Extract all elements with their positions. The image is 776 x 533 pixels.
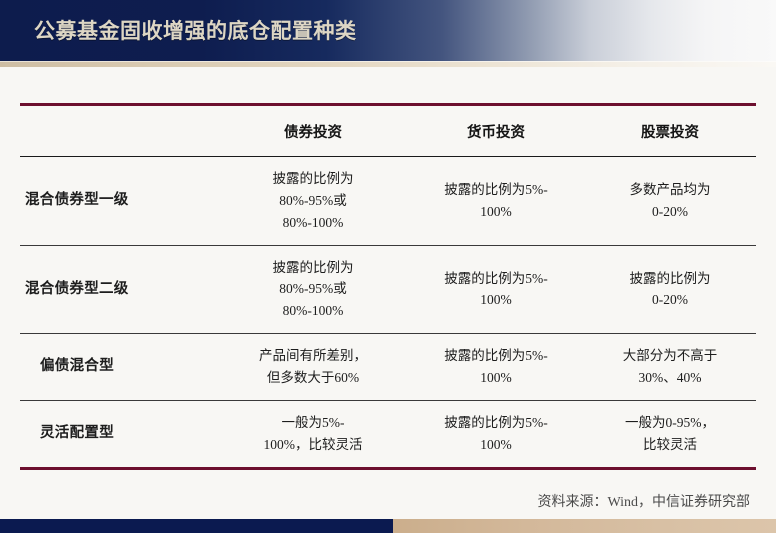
cell-bond-hybrid-bond-tier2: 披露的比例为80%-95%或80%-100% [218, 245, 408, 334]
row-label-bond-biased-hybrid: 偏债混合型 [20, 334, 218, 401]
cell-stock-bond-biased-hybrid: 大部分为不高于30%、40% [584, 334, 756, 401]
table-row: 混合债券型二级 披露的比例为80%-95%或80%-100% 披露的比例为5%-… [20, 245, 756, 334]
page-title: 公募基金固收增强的底仓配置种类 [34, 15, 357, 45]
row-label-flexible-allocation: 灵活配置型 [20, 400, 218, 468]
table-head: 债券投资 货币投资 股票投资 [20, 105, 756, 157]
cell-stock-flexible-allocation: 一般为0-95%，比较灵活 [584, 400, 756, 468]
cell-bond-hybrid-bond-tier1: 披露的比例为80%-95%或80%-100% [218, 157, 408, 246]
header-accent-highlight [0, 61, 776, 62]
source-note: 资料来源：Wind，中信证券研究部 [537, 491, 750, 511]
cell-money-bond-biased-hybrid: 披露的比例为5%-100% [408, 334, 584, 401]
table-row: 混合债券型一级 披露的比例为80%-95%或80%-100% 披露的比例为5%-… [20, 157, 756, 246]
row-label-hybrid-bond-tier1: 混合债券型一级 [20, 157, 218, 246]
column-header-blank [20, 106, 218, 157]
cell-money-hybrid-bond-tier2: 披露的比例为5%-100% [408, 245, 584, 334]
column-header-stock: 股票投资 [584, 106, 756, 157]
cell-bond-bond-biased-hybrid: 产品间有所差别，但多数大于60% [218, 334, 408, 401]
cell-bond-flexible-allocation: 一般为5%-100%，比较灵活 [218, 400, 408, 468]
table-body: 混合债券型一级 披露的比例为80%-95%或80%-100% 披露的比例为5%-… [20, 157, 756, 470]
table-header-row: 债券投资 货币投资 股票投资 [20, 106, 756, 157]
footer-bar-tan [393, 519, 776, 533]
column-header-bond: 债券投资 [218, 106, 408, 157]
cell-stock-hybrid-bond-tier1: 多数产品均为0-20% [584, 157, 756, 246]
cell-money-hybrid-bond-tier1: 披露的比例为5%-100% [408, 157, 584, 246]
footer-bar [0, 519, 776, 533]
table-row: 偏债混合型 产品间有所差别，但多数大于60% 披露的比例为5%-100% 大部分… [20, 334, 756, 401]
allocation-table: 债券投资 货币投资 股票投资 混合债券型一级 披露的比例为80%-95%或80%… [20, 103, 756, 470]
table-container: 债券投资 货币投资 股票投资 混合债券型一级 披露的比例为80%-95%或80%… [20, 103, 756, 470]
table-row: 灵活配置型 一般为5%-100%，比较灵活 披露的比例为5%-100% 一般为0… [20, 400, 756, 468]
column-header-money: 货币投资 [408, 106, 584, 157]
table-bottom-rule [20, 468, 756, 470]
cell-stock-hybrid-bond-tier2: 披露的比例为0-20% [584, 245, 756, 334]
cell-money-flexible-allocation: 披露的比例为5%-100% [408, 400, 584, 468]
row-label-hybrid-bond-tier2: 混合债券型二级 [20, 245, 218, 334]
footer-bar-navy [0, 519, 393, 533]
